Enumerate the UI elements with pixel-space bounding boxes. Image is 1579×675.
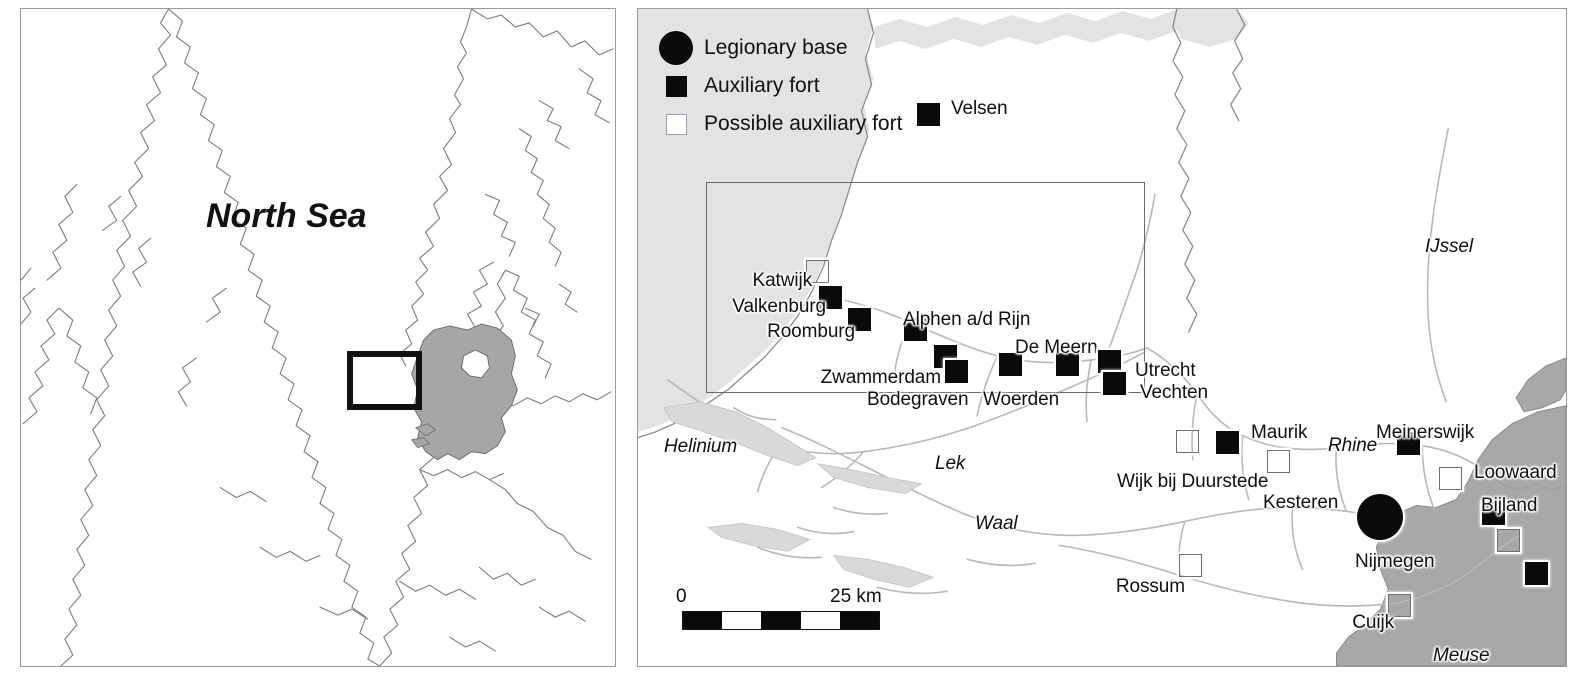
area-of-interest-box[interactable]: [347, 351, 422, 410]
river-label: Rhine: [1328, 436, 1377, 455]
north-sea-label: North Sea: [206, 197, 367, 236]
inset-overview-panel: North Sea: [20, 8, 616, 667]
river-label: Helinium: [664, 437, 737, 456]
river-label: IJssel: [1425, 237, 1473, 256]
river-label-overlay: HeliniumLekWaalRhineIJsselMeuse: [638, 9, 1566, 666]
river-label: Meuse: [1433, 646, 1490, 665]
river-label: Lek: [935, 454, 965, 473]
inset-coastline-map: [21, 9, 615, 666]
detail-map-panel: Legionary base Auxiliary fort Possible a…: [637, 8, 1567, 667]
figure-root: North Sea: [0, 0, 1579, 675]
netherlands-highlight: [412, 324, 518, 460]
river-label: Waal: [975, 514, 1018, 533]
